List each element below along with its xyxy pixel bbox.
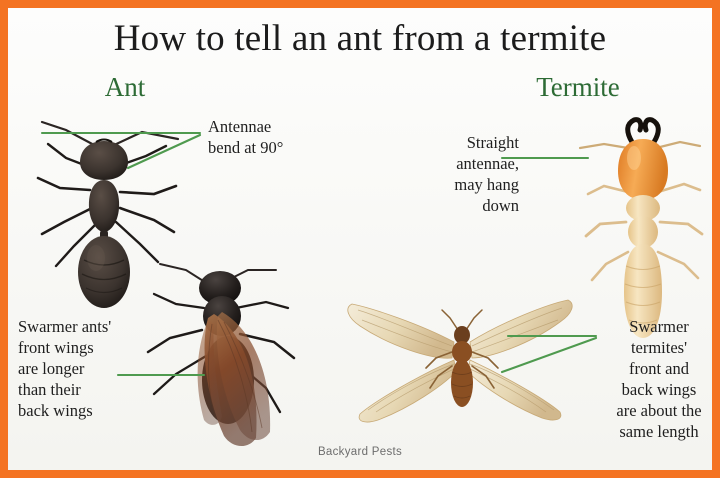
infographic-canvas: How to tell an ant from a termite Ant Te… [8, 8, 712, 470]
annotation-line: antennae, [404, 153, 519, 174]
annotation-line: front wings [18, 337, 158, 358]
column-heading-termite: Termite [498, 72, 658, 102]
leader-swarmer-termite-wings-bottom [502, 338, 596, 372]
annotation-line: front and [603, 358, 712, 379]
column-heading-ant: Ant [70, 72, 180, 102]
annotation-line: are about the [603, 400, 712, 421]
annotation-line: Antennae [208, 116, 358, 137]
annotation-ant-antennae: Antennae bend at 90° [208, 116, 358, 158]
annotation-line: same length [603, 421, 712, 442]
annotation-line: Swarmer ants' [18, 316, 158, 337]
annotation-line: than their [18, 379, 158, 400]
annotation-line: Swarmer [603, 316, 712, 337]
annotation-line: termites' [603, 337, 712, 358]
annotation-line: are longer [18, 358, 158, 379]
annotation-line: bend at 90° [208, 137, 358, 158]
page-title: How to tell an ant from a termite [8, 18, 712, 60]
annotation-line: may hang [404, 174, 519, 195]
annotation-termite-wings: Swarmer termites' front and back wings a… [603, 316, 712, 442]
annotation-line: down [404, 195, 519, 216]
annotation-ant-wings: Swarmer ants' front wings are longer tha… [18, 316, 158, 421]
annotation-line: back wings [603, 379, 712, 400]
annotation-line: back wings [18, 400, 158, 421]
watermark-label: Backyard Pests [8, 446, 712, 458]
infographic-root: How to tell an ant from a termite Ant Te… [0, 0, 720, 478]
annotation-line: Straight [404, 132, 519, 153]
leader-ant-antennae-bottom [128, 135, 200, 168]
annotation-termite-antennae: Straight antennae, may hang down [404, 132, 519, 216]
